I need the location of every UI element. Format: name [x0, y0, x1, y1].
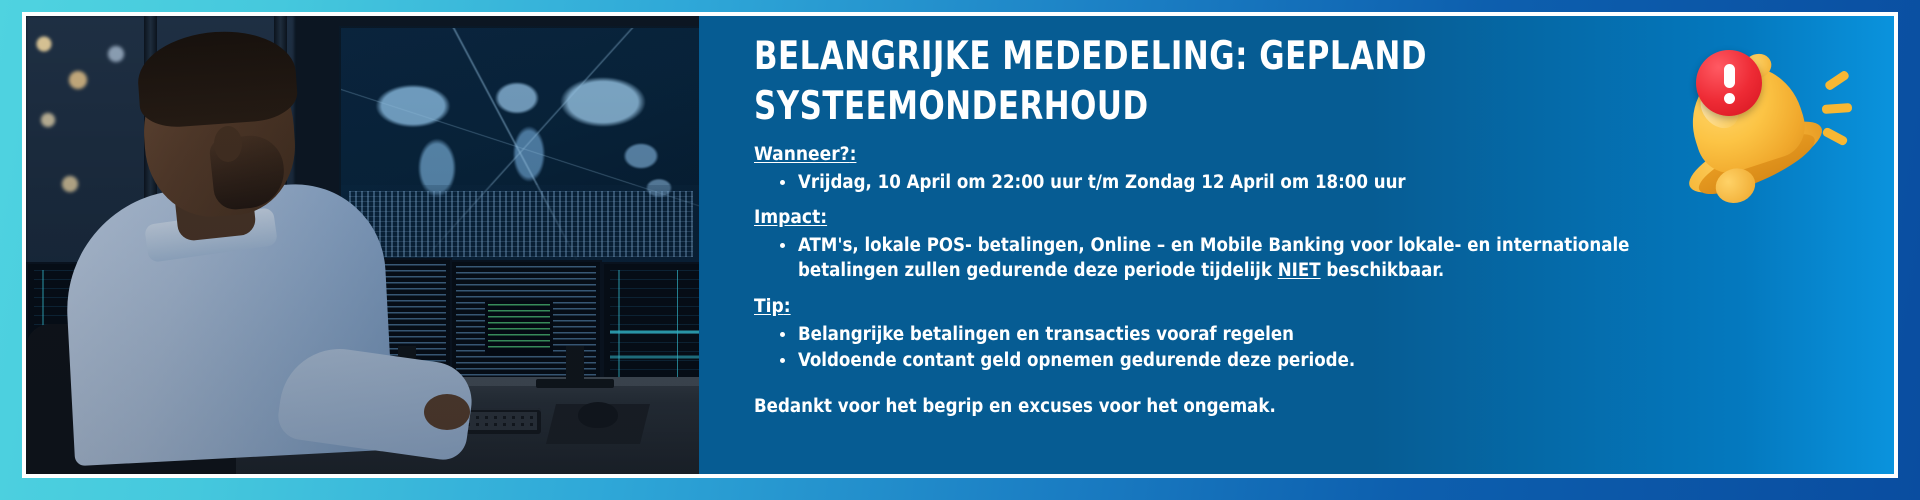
banner-frame: BELANGRIJKE MEDEDELING: GEPLAND SYSTEEMO… — [0, 0, 1920, 500]
section-label-tip: Tip: — [754, 295, 1854, 317]
list-item: Vrijdag, 10 April om 22:00 uur t/m Zonda… — [798, 171, 1703, 196]
control-room-photo — [26, 16, 699, 474]
section-tip: Tip: Belangrijke betalingen en transacti… — [754, 295, 1854, 374]
impact-text-post: beschikbaar. — [1321, 260, 1445, 281]
section-impact: Impact: ATM's, lokale POS- betalingen, O… — [754, 206, 1854, 283]
bell-ray-icon — [1824, 69, 1851, 91]
impact-text-pre: ATM's, lokale POS- betalingen, Online – … — [798, 235, 1629, 281]
banner-title: BELANGRIJKE MEDEDELING: GEPLAND SYSTEEMO… — [754, 32, 1722, 132]
section-label-impact: Impact: — [754, 206, 1854, 228]
notification-bell-icon — [1672, 42, 1852, 202]
list-item: Voldoende contant geld opnemen gedurende… — [798, 349, 1703, 374]
section-list-tip: Belangrijke betalingen en transacties vo… — [754, 323, 1854, 374]
banner-card: BELANGRIJKE MEDEDELING: GEPLAND SYSTEEMO… — [22, 12, 1898, 478]
alert-badge-icon — [1696, 50, 1762, 116]
banner-card-inner: BELANGRIJKE MEDEDELING: GEPLAND SYSTEEMO… — [26, 16, 1894, 474]
exclamation-bar — [1724, 64, 1735, 88]
closing-text: Bedankt voor het begrip en excuses voor … — [754, 396, 1854, 417]
section-list-impact: ATM's, lokale POS- betalingen, Online – … — [754, 234, 1854, 283]
list-item: Belangrijke betalingen en transacties vo… — [798, 323, 1703, 348]
photo-shading — [26, 16, 699, 474]
exclamation-dot — [1724, 93, 1735, 104]
impact-emphasis-niet: NIET — [1278, 260, 1321, 281]
bell-ray-icon — [1822, 103, 1853, 114]
bell-ray-icon — [1821, 126, 1848, 146]
list-item: ATM's, lokale POS- betalingen, Online – … — [798, 234, 1703, 283]
